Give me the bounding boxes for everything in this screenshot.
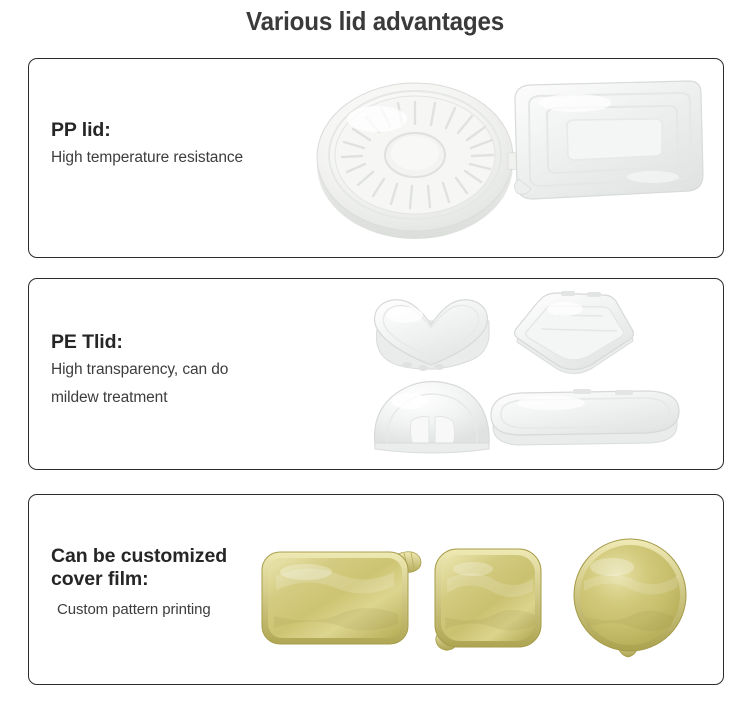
panel-pe-heading: PE Tlid: (51, 331, 228, 354)
panel-pp-lid: PP lid: High temperature resistance (28, 58, 724, 258)
panel-pp-label-group: PP lid: High temperature resistance (51, 119, 243, 170)
panel-cover-film-heading-line-1: Can be customized (51, 545, 227, 568)
product-image-rectangular-flat-lid (503, 67, 713, 217)
product-image-gold-rectangular-film (258, 542, 438, 652)
panel-pp-description: High temperature resistance (51, 145, 243, 170)
panel-pp-heading: PP lid: (51, 119, 243, 142)
product-image-round-ribbed-lid (315, 69, 525, 249)
panel-pe-description-line-2: mildew treatment (51, 385, 228, 410)
infographic-page: Various lid advantages PP lid: High temp… (0, 0, 750, 713)
product-image-round-dome-lid (367, 377, 497, 457)
panel-cover-film-label-group: Can be customized cover film: Custom pat… (51, 545, 227, 622)
product-image-square-dome-lid (499, 285, 649, 380)
panel-pe-description-line-1: High transparency, can do (51, 357, 228, 382)
panel-cover-film-description: Custom pattern printing (51, 598, 227, 622)
panel-cover-film: Can be customized cover film: Custom pat… (28, 494, 724, 685)
page-title: Various lid advantages (26, 6, 724, 37)
panel-pe-label-group: PE Tlid: High transparency, can do milde… (51, 331, 228, 410)
product-image-heart-dome-lid (363, 287, 503, 382)
panel-pe-lid: PE Tlid: High transparency, can do milde… (28, 278, 724, 470)
product-image-gold-round-film (568, 535, 698, 665)
panel-cover-film-heading-line-2: cover film: (51, 568, 227, 591)
product-image-gold-square-film (429, 543, 559, 658)
product-image-oval-flat-lid (487, 385, 687, 455)
